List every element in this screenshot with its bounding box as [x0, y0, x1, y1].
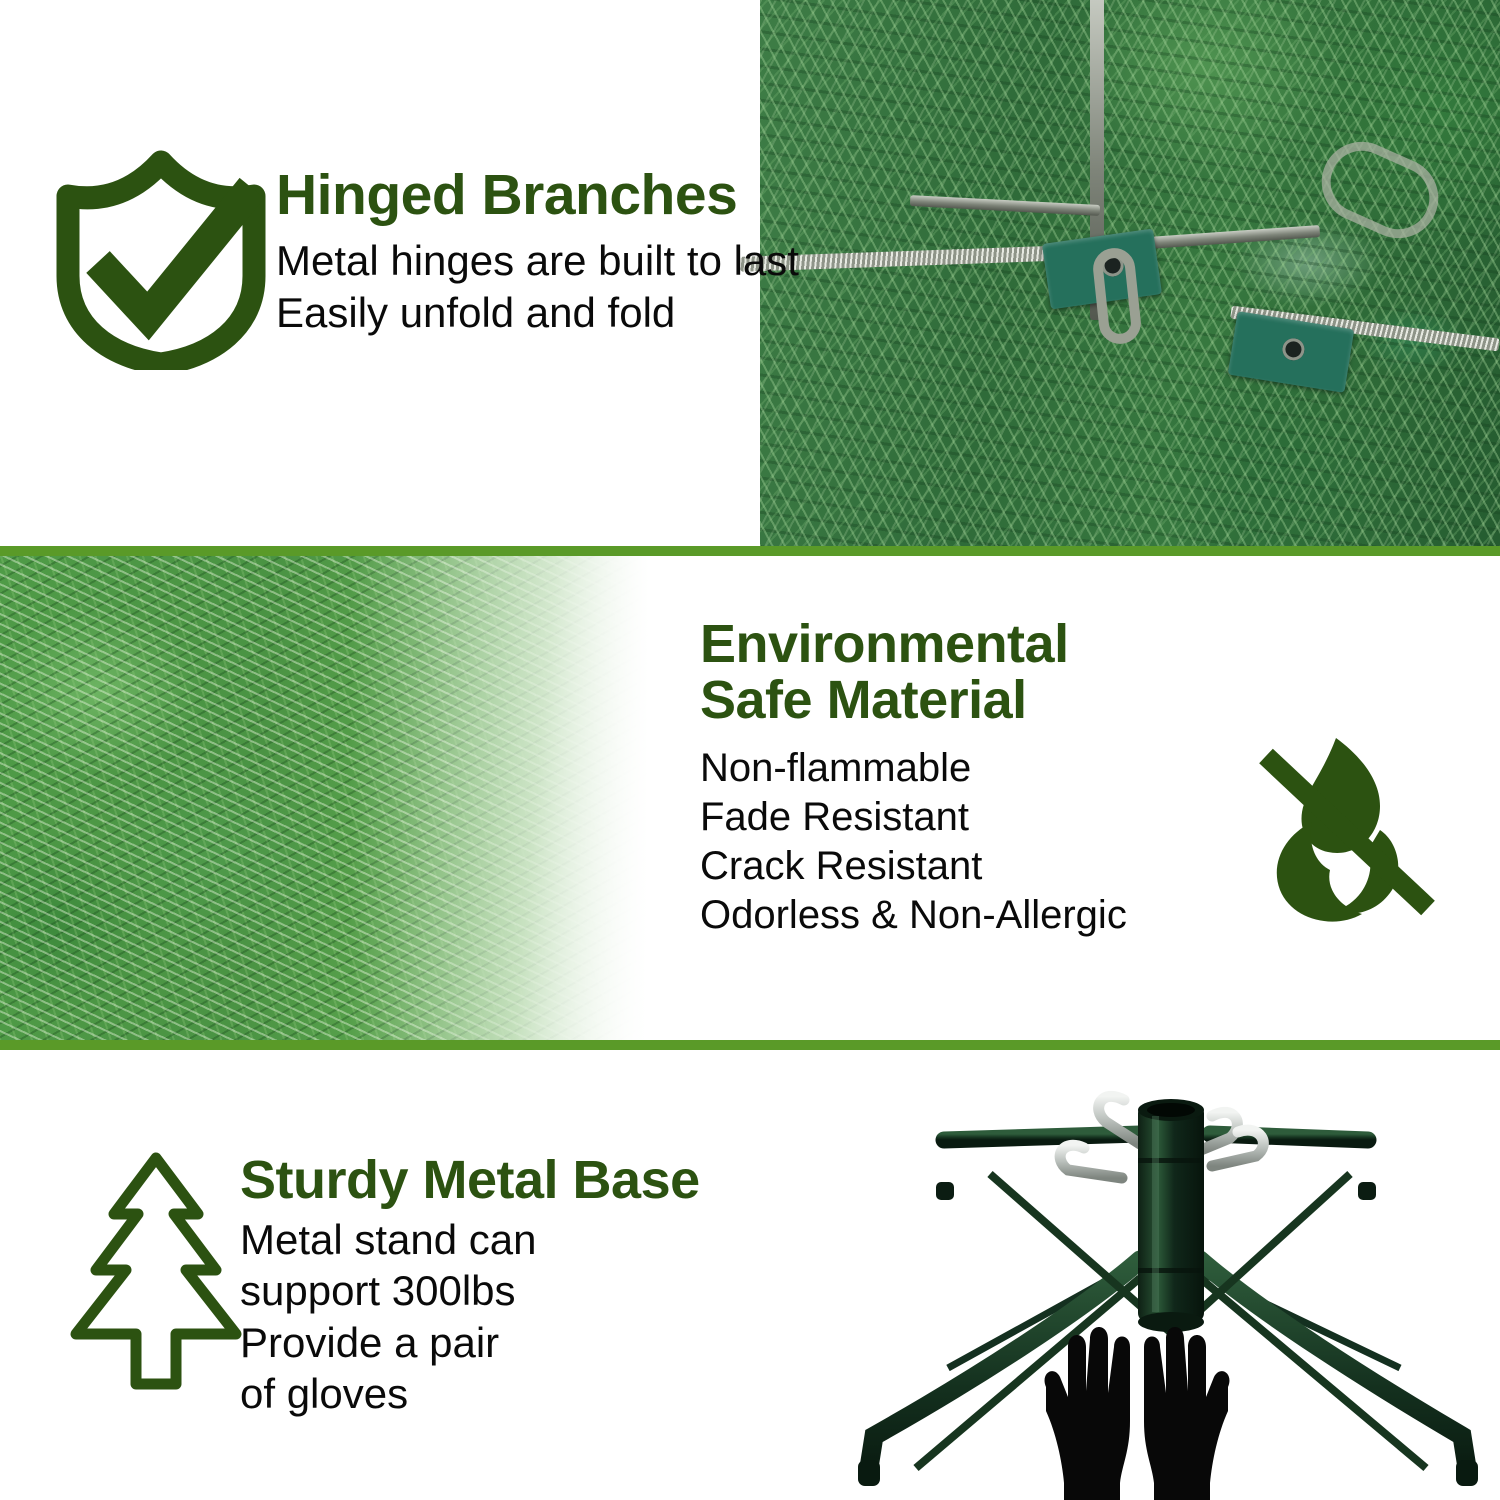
photo-white-fade-overlay [350, 556, 690, 1042]
panel-divider-top [0, 546, 1500, 556]
shield-check-icon [56, 150, 266, 370]
product-feature-infographic: Hinged Branches Metal hinges are built t… [0, 0, 1500, 1500]
hinge-bracket-hole [1281, 337, 1306, 362]
hinged-branches-text-block: Hinged Branches Metal hinges are built t… [276, 166, 956, 338]
panel-divider-bottom [0, 1040, 1500, 1050]
no-flame-icon [1252, 730, 1442, 930]
hinged-branches-body: Metal hinges are built to last Easily un… [276, 235, 956, 337]
panel-hinged-branches: Hinged Branches Metal hinges are built t… [0, 0, 1500, 548]
environmental-safe-material-text-block: Environmental Safe Material Non-flammabl… [700, 616, 1280, 940]
environmental-safe-material-heading: Environmental Safe Material [700, 616, 1280, 728]
christmas-tree-outline-icon [58, 1148, 254, 1406]
work-gloves-pair-icon [1012, 1325, 1262, 1500]
sturdy-metal-base-text-block: Sturdy Metal Base Metal stand can suppor… [240, 1152, 880, 1419]
hinged-branches-heading: Hinged Branches [276, 166, 956, 225]
environmental-safe-material-body: Non-flammable Fade Resistant Crack Resis… [700, 744, 1280, 939]
pine-branches-photo [0, 556, 690, 1042]
sturdy-metal-base-body: Metal stand can support 300lbs Provide a… [240, 1214, 880, 1419]
sturdy-metal-base-heading: Sturdy Metal Base [240, 1152, 880, 1208]
